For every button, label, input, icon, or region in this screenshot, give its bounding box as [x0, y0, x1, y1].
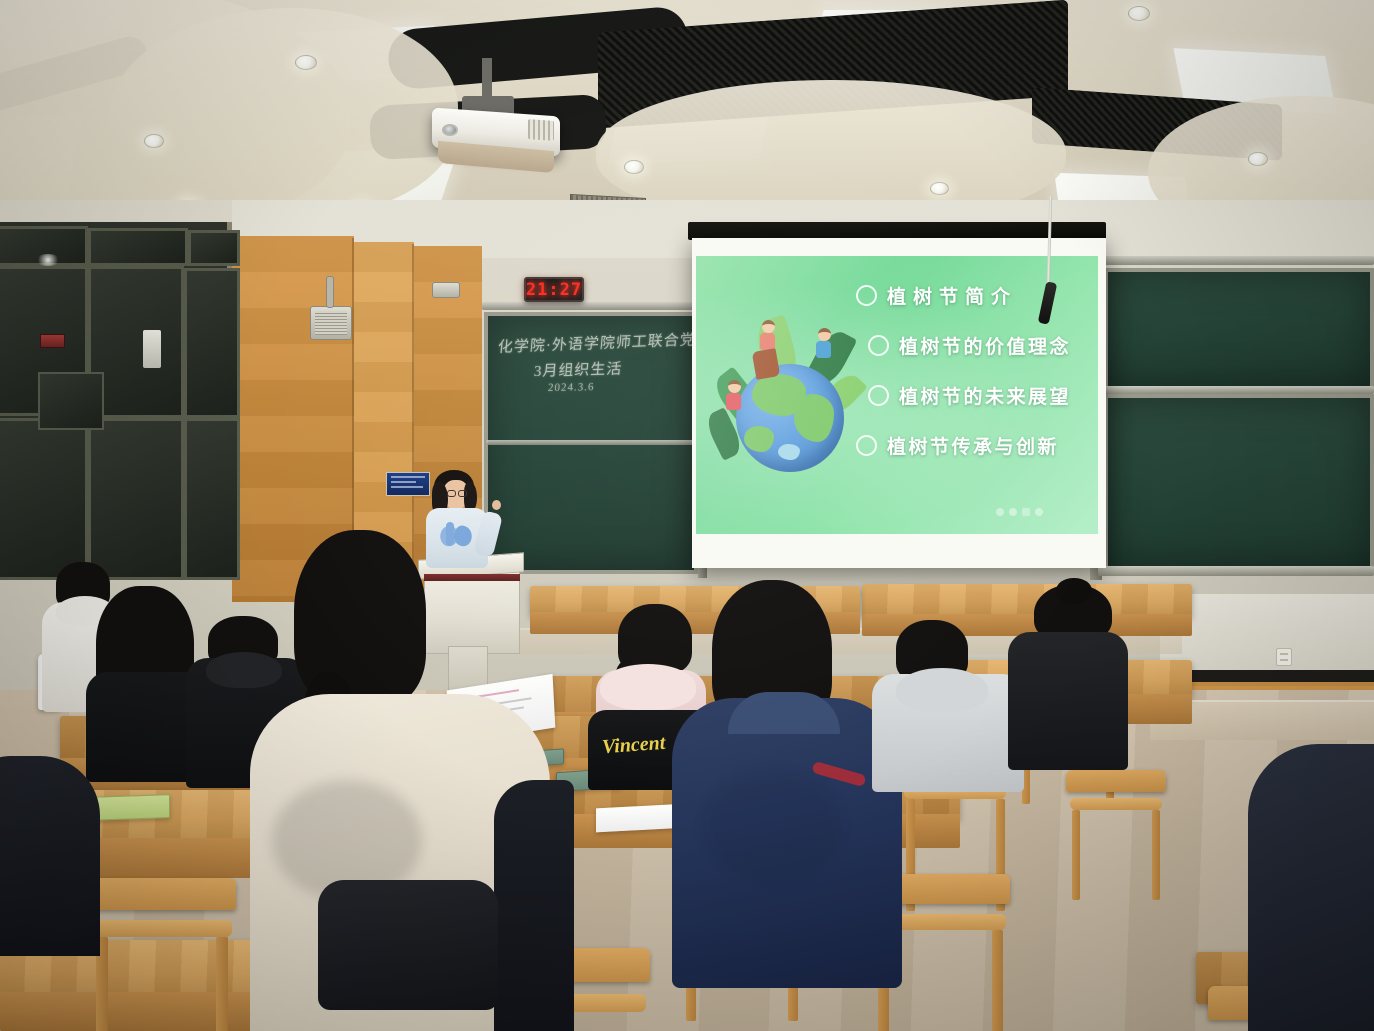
- projector-lens: [442, 124, 458, 136]
- chair-backrest: [1066, 770, 1166, 792]
- logo-dot-icon: [1009, 508, 1017, 516]
- bullet-ring-icon: [856, 285, 877, 306]
- earth-globe: [736, 364, 844, 472]
- presentation-slide: 植树节简介 植树节的价值理念 植树节的未来展望 植树节传承与创新: [696, 256, 1098, 534]
- classroom-photo: 化学院·外语学院师工联合党支部 3月组织生活 2024.3.6 21:27: [0, 0, 1374, 1031]
- slide-earth-illustration: [708, 306, 888, 496]
- slide-bullet-row: 植树节简介: [856, 282, 1017, 309]
- chalkboard-rail: [1100, 256, 1374, 265]
- child-head: [818, 328, 831, 341]
- child-head: [762, 320, 775, 333]
- slide-bullet-text: 植树节的未来展望: [899, 382, 1071, 409]
- presenter-glasses: [447, 490, 456, 497]
- window-hanging-lamp: [143, 330, 161, 368]
- desk-row-back: [862, 584, 1192, 618]
- bullet-ring-icon: [868, 385, 889, 406]
- chalkboard-bottom-rail: [1098, 566, 1374, 576]
- slide-footer-logos: [996, 508, 1043, 516]
- ceiling-downlight: [1248, 152, 1268, 166]
- chair-leg: [216, 937, 228, 1031]
- slide-bullet-row: 植树节的未来展望: [868, 382, 1071, 409]
- window-pane: [184, 418, 240, 580]
- logo-dot-icon: [1035, 508, 1043, 516]
- chair-slat: [1070, 798, 1162, 810]
- wall-baseboard: [1160, 670, 1374, 682]
- lower-white-wall: [1160, 594, 1374, 674]
- slide-bullet-text: 植树节传承与创新: [887, 432, 1059, 459]
- slide-bullet-text: 植树节的价值理念: [899, 332, 1071, 359]
- chalkboard-rail: [482, 302, 700, 310]
- window-pane: [88, 228, 188, 266]
- hoodie-butterfly-graphic: [446, 522, 454, 546]
- window-reflection-light: [36, 254, 60, 266]
- speaker-grille: [315, 311, 347, 335]
- light-switch[interactable]: [1276, 648, 1292, 666]
- hoodie-hood: [896, 668, 988, 712]
- presenter-hand: [492, 500, 501, 510]
- window-red-sign: [40, 334, 65, 348]
- window-inner-frame: [38, 372, 104, 430]
- wall-speaker-small: [432, 282, 460, 298]
- hoodie-hood: [600, 664, 696, 710]
- ceiling-downlight: [624, 160, 644, 174]
- chalkboard-right-upper: [1104, 268, 1374, 390]
- bullet-ring-icon: [868, 335, 889, 356]
- chalkboard-rail: [1100, 386, 1374, 394]
- presenter-glasses: [458, 490, 467, 497]
- student-jacket: [1008, 632, 1128, 770]
- student-jacket: [1248, 744, 1374, 1031]
- student-sweater-shoulder: [494, 780, 574, 1031]
- clock-time: 21:27: [526, 280, 582, 300]
- window-pane: [0, 418, 88, 580]
- continent-shape: [794, 394, 834, 442]
- backpack: [318, 880, 498, 1010]
- ceiling-downlight: [1128, 6, 1150, 21]
- chair-slat: [90, 920, 232, 937]
- window-pane: [188, 230, 240, 266]
- child-body: [726, 393, 741, 410]
- wall-speaker: [310, 306, 352, 340]
- chalkboard-rail: [486, 440, 698, 445]
- student-hair-bun: [1056, 578, 1092, 604]
- window-pane: [184, 268, 240, 418]
- continent-shape: [778, 444, 800, 460]
- projection-screen: 植树节简介 植树节的价值理念 植树节的未来展望 植树节传承与创新: [692, 238, 1106, 568]
- logo-dot-icon: [996, 508, 1004, 516]
- chair-leg: [1072, 810, 1080, 900]
- wood-panel-seam: [412, 244, 414, 600]
- hoodie-hood: [206, 652, 282, 688]
- window-pane: [88, 418, 184, 580]
- ceiling-downlight: [144, 134, 164, 148]
- child-body: [816, 341, 831, 358]
- chair-leg: [1152, 810, 1160, 900]
- window-wall: [0, 222, 232, 574]
- ceiling-downlight: [295, 55, 317, 70]
- ceiling-downlight: [930, 182, 949, 195]
- hoodie-graphic-text: Vincent: [601, 732, 666, 759]
- slide-bullet-text: 植树节简介: [887, 282, 1017, 309]
- chair-backrest: [86, 878, 236, 910]
- ceiling-speaker-arm: [326, 276, 334, 308]
- chair-leg: [992, 930, 1003, 1031]
- continent-shape: [744, 426, 774, 452]
- logo-square-icon: [1022, 508, 1030, 516]
- student-jacket: [0, 756, 100, 956]
- child-head: [728, 380, 741, 393]
- sapling-icon: [752, 348, 780, 380]
- shoulder-shadow: [702, 770, 842, 880]
- slide-bullet-row: 植树节的价值理念: [868, 332, 1071, 359]
- student-presenter: [416, 470, 516, 580]
- chalkboard-right-lower: [1104, 394, 1374, 570]
- slide-bullet-row: 植树节传承与创新: [856, 432, 1059, 459]
- projector-vent: [528, 119, 554, 141]
- digital-wall-clock: 21:27: [524, 277, 584, 302]
- bullet-ring-icon: [856, 435, 877, 456]
